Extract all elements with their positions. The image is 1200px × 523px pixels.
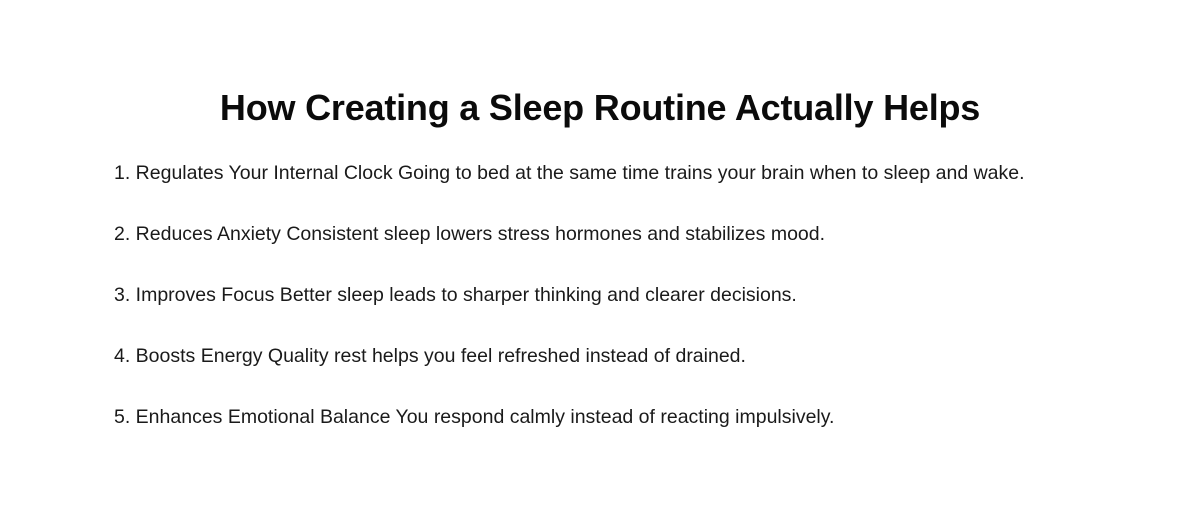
list-item: 1. Regulates Your Internal Clock Going t…: [114, 160, 1066, 187]
list-item: 2. Reduces Anxiety Consistent sleep lowe…: [114, 221, 1066, 248]
list-item: 3. Improves Focus Better sleep leads to …: [114, 282, 1066, 309]
list-item: 5. Enhances Emotional Balance You respon…: [114, 404, 1066, 431]
list-item: 4. Boosts Energy Quality rest helps you …: [114, 343, 1066, 370]
page-title: How Creating a Sleep Routine Actually He…: [0, 86, 1200, 130]
points-list: 1. Regulates Your Internal Clock Going t…: [114, 160, 1066, 431]
document-page: How Creating a Sleep Routine Actually He…: [0, 0, 1200, 523]
